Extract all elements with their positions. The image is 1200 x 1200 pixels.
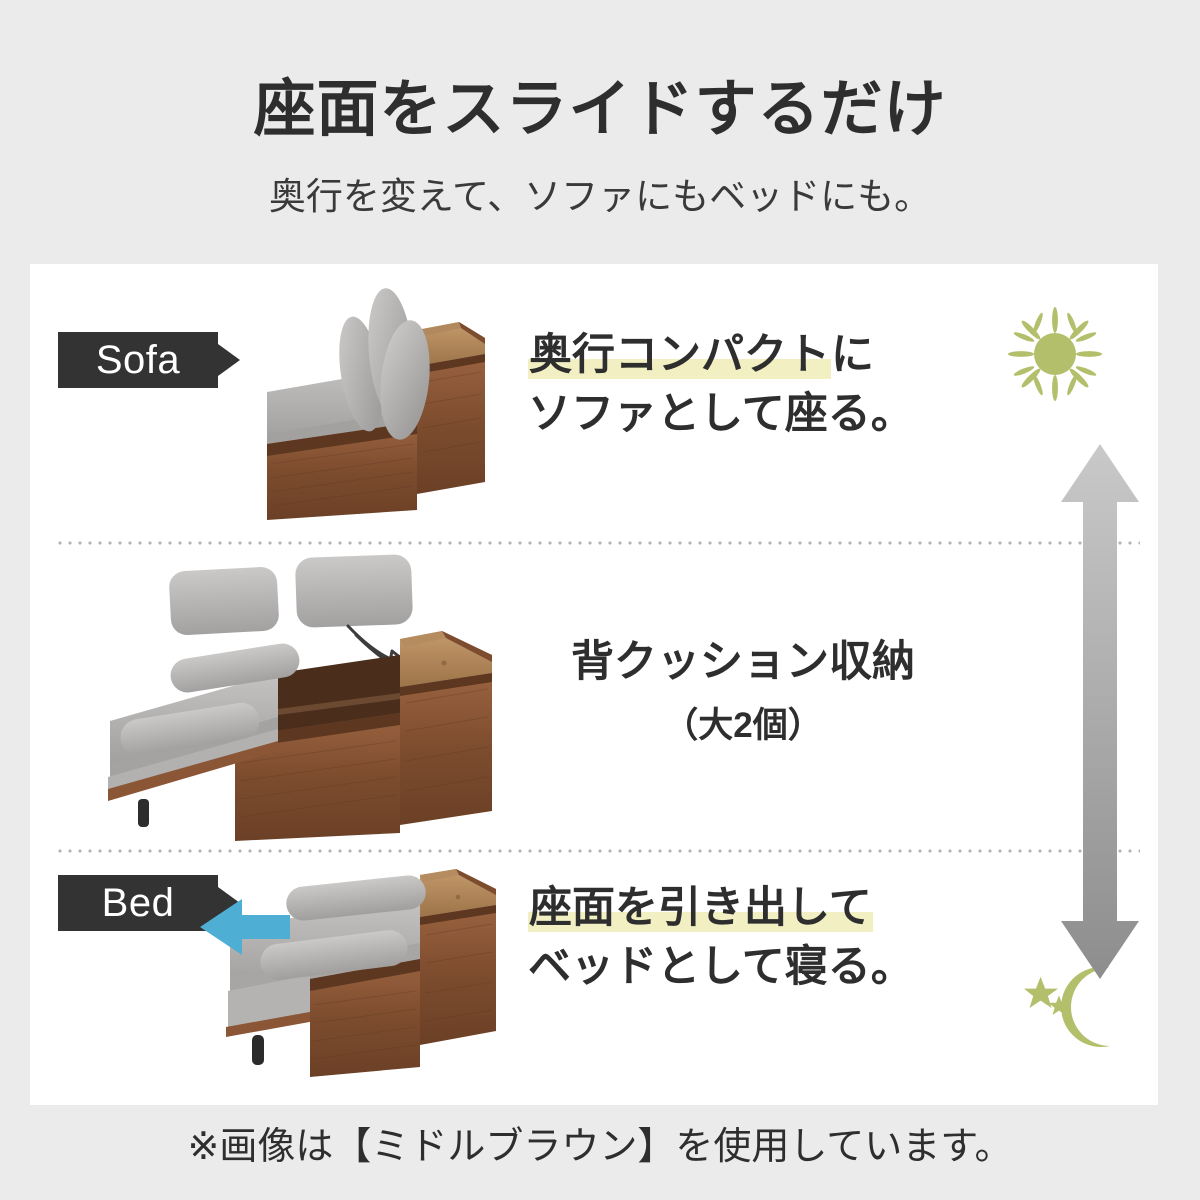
- bed-extended-illustration: [190, 859, 520, 1084]
- caption-bed-highlight: 座面を引き出して: [528, 884, 873, 932]
- sun-icon: [1005, 304, 1105, 409]
- caption-sofa-line1: 奥行コンパクトに: [528, 326, 914, 385]
- row-bed: Bed: [30, 849, 1158, 1105]
- badge-sofa: Sofa: [58, 332, 218, 388]
- caption-sofa-line2: ソファとして座る。: [528, 385, 914, 444]
- row-cushion-storage: 背クッション収納 （大2個）: [30, 541, 1158, 849]
- content-panel: Sofa: [30, 264, 1158, 1105]
- caption-sofa-line1-rest: に: [831, 331, 874, 379]
- sofa-compact-illustration: [245, 282, 505, 527]
- caption-cushion-storage: 背クッション収納 （大2個）: [528, 633, 958, 751]
- caption-bed-line1: 座面を引き出して: [528, 879, 914, 938]
- vertical-double-arrow-icon: [1055, 444, 1145, 979]
- caption-cushion-sub: （大2個）: [528, 702, 958, 750]
- footer-note: ※画像は【ミドルブラウン】を使用しています。: [0, 1115, 1200, 1170]
- badge-bed-label: Bed: [102, 881, 175, 926]
- caption-bed: 座面を引き出して ベッドとして寝る。: [528, 879, 914, 998]
- badge-sofa-label: Sofa: [96, 338, 180, 383]
- header: 座面をスライドするだけ 奥行を変えて、ソファにもベッドにも。: [0, 0, 1200, 264]
- caption-cushion-main: 背クッション収納: [528, 633, 958, 692]
- page-subtitle: 奥行を変えて、ソファにもベッドにも。: [269, 166, 931, 220]
- sofa-cushion-storage-illustration: [100, 551, 520, 841]
- badge-tail-icon: [218, 344, 240, 376]
- caption-sofa: 奥行コンパクトに ソファとして座る。: [528, 326, 914, 445]
- caption-sofa-highlight: 奥行コンパクト: [528, 331, 831, 379]
- caption-bed-line2: ベッドとして寝る。: [528, 938, 914, 997]
- row-sofa: Sofa: [30, 264, 1158, 541]
- page-title: 座面をスライドするだけ: [253, 76, 946, 144]
